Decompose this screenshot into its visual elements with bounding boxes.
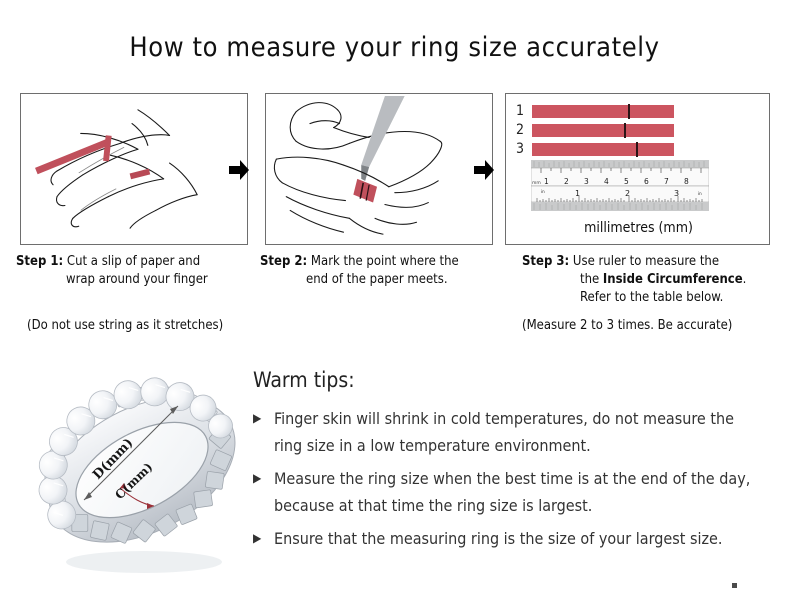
strip-number: 2 (516, 122, 532, 138)
svg-text:1: 1 (544, 177, 549, 186)
svg-text:3: 3 (584, 177, 589, 186)
measured-strip-row: 1 (516, 104, 674, 118)
step-3-caption: Step 3: Use ruler to measure the the Ins… (522, 253, 782, 307)
hand-marking-paper-illustration (266, 94, 492, 244)
step-1-illustration-panel (20, 93, 248, 245)
tip-item: ▶ Ensure that the measuring ring is the … (253, 525, 753, 552)
step-1-caption: Step 1: Cut a slip of paper and wrap aro… (16, 253, 256, 289)
svg-text:in: in (541, 189, 545, 194)
svg-text:4: 4 (604, 177, 609, 186)
step-2-line-2: end of the paper meets. (260, 271, 500, 289)
triangle-bullet-icon: ▶ (253, 525, 261, 552)
triangle-bullet-icon: ▶ (253, 465, 261, 492)
warm-tips-heading: Warm tips: (253, 368, 355, 392)
svg-text:7: 7 (664, 177, 669, 186)
paper-strip (532, 124, 674, 137)
arrow-right-icon (473, 158, 495, 182)
ring-diagram-photo: D(mm) C(mm) (28, 352, 256, 588)
tip-text: Ensure that the measuring ring is the si… (274, 529, 722, 548)
step-3-lead: Step 3: (522, 254, 569, 269)
corner-artifact (732, 583, 737, 588)
strip-mark (636, 142, 638, 157)
measured-strip-row: 3 (516, 142, 674, 156)
arrow-right-icon (228, 158, 250, 182)
strip-number: 3 (516, 141, 532, 157)
hand-with-paper-strip-illustration (21, 94, 247, 244)
svg-text:2: 2 (625, 189, 630, 198)
svg-text:in: in (698, 191, 702, 196)
svg-text:2: 2 (564, 177, 569, 186)
measured-strip-row: 2 (516, 123, 674, 137)
strip-mark (628, 104, 630, 119)
paper-strip-on-finger (353, 179, 377, 203)
svg-text:1: 1 (575, 189, 580, 198)
step-3-line-2-post: . (743, 272, 747, 287)
page-title: How to measure your ring size accurately (0, 32, 789, 63)
step-2-caption: Step 2: Mark the point where the end of … (260, 253, 500, 289)
step-1-note: (Do not use string as it stretches) (27, 318, 223, 333)
tip-text: Measure the ring size when the best time… (274, 469, 750, 515)
step-1-line-1: Cut a slip of paper and (63, 254, 200, 269)
step-2-lead: Step 2: (260, 254, 307, 269)
tip-item: ▶ Measure the ring size when the best ti… (253, 465, 753, 519)
warm-tips-list: ▶ Finger skin will shrink in cold temper… (253, 405, 753, 558)
svg-text:mm: mm (532, 181, 541, 186)
svg-text:3: 3 (674, 189, 679, 198)
step-1-lead: Step 1: (16, 254, 63, 269)
step-3-line-3: Refer to the table below. (522, 289, 782, 307)
svg-text:8: 8 (684, 177, 689, 186)
ruler-unit-label: millimetres (mm) (506, 220, 770, 236)
triangle-bullet-icon: ▶ (253, 405, 261, 432)
step-3-ruler-panel: 1 2 3 1 2 3 4 5 6 7 8 (505, 93, 770, 245)
step-1-line-2: wrap around your finger (16, 271, 256, 289)
step-3-line-2: the Inside Circumference. (522, 271, 782, 289)
tip-item: ▶ Finger skin will shrink in cold temper… (253, 405, 753, 459)
step-2-line-1: Mark the point where the (307, 254, 459, 269)
paper-strip (532, 143, 674, 156)
strip-number: 1 (516, 103, 532, 119)
svg-text:5: 5 (624, 177, 629, 186)
step-3-line-2-pre: the (580, 272, 603, 287)
strip-mark (624, 123, 626, 138)
svg-text:6: 6 (644, 177, 649, 186)
step-2-illustration-panel (265, 93, 493, 245)
inside-circumference-emphasis: Inside Circumference (603, 272, 743, 287)
paper-strip-red (35, 135, 150, 179)
step-3-line-1: Use ruler to measure the (569, 254, 719, 269)
paper-strip (532, 105, 674, 118)
ruler-illustration: 1 2 3 4 5 6 7 8 mm 1 2 3 in in (531, 160, 709, 216)
tip-text: Finger skin will shrink in cold temperat… (274, 409, 734, 455)
step-3-note: (Measure 2 to 3 times. Be accurate) (522, 318, 732, 333)
